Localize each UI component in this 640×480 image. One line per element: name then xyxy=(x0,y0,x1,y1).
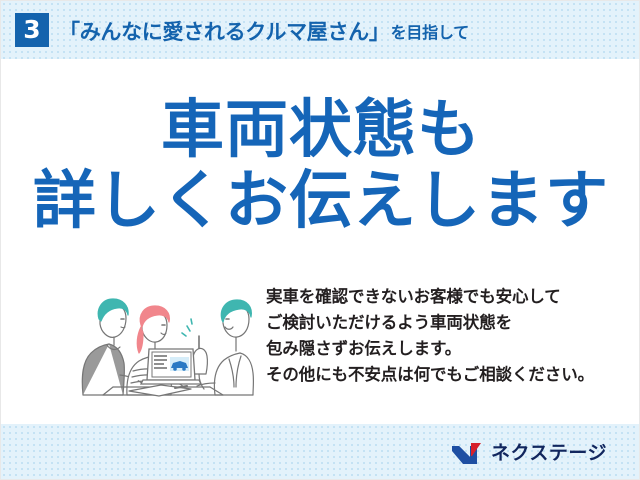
nextage-logo-text: ネクステージ xyxy=(491,444,607,463)
header-title-quoted: 「みんなに愛されるクルマ屋さん」 xyxy=(59,16,390,46)
headline-line-2: 詳しくお伝えします xyxy=(1,168,640,235)
body-copy-line-3: 包み隠さずお伝えします。 xyxy=(266,336,626,362)
consultation-illustration-svg xyxy=(63,279,258,397)
step-number-badge: 3 xyxy=(15,13,49,47)
headline: 車両状態も 詳しくお伝えします xyxy=(1,97,640,235)
consultation-illustration xyxy=(63,279,258,397)
promo-banner: 3 「みんなに愛されるクルマ屋さん」 を目指して 車両状態も 詳しくお伝えします xyxy=(0,0,640,480)
headline-line-1: 車両状態も xyxy=(1,97,640,164)
header-title-tail: を目指して xyxy=(390,19,470,44)
body-copy-line-4: その他にも不安点は何でもご相談ください。 xyxy=(266,362,626,388)
nextage-logo: ネクステージ xyxy=(450,438,607,468)
body-copy: 実車を確認できないお客様でも安心して ご検討いただけるよう車両状態を 包み隠さず… xyxy=(266,284,626,388)
body-copy-line-2: ご検討いただけるよう車両状態を xyxy=(266,310,626,336)
body-copy-line-1: 実車を確認できないお客様でも安心して xyxy=(266,284,626,310)
nextage-n-mark-icon xyxy=(450,441,484,466)
header-title: 「みんなに愛されるクルマ屋さん」 を目指して xyxy=(59,14,469,48)
